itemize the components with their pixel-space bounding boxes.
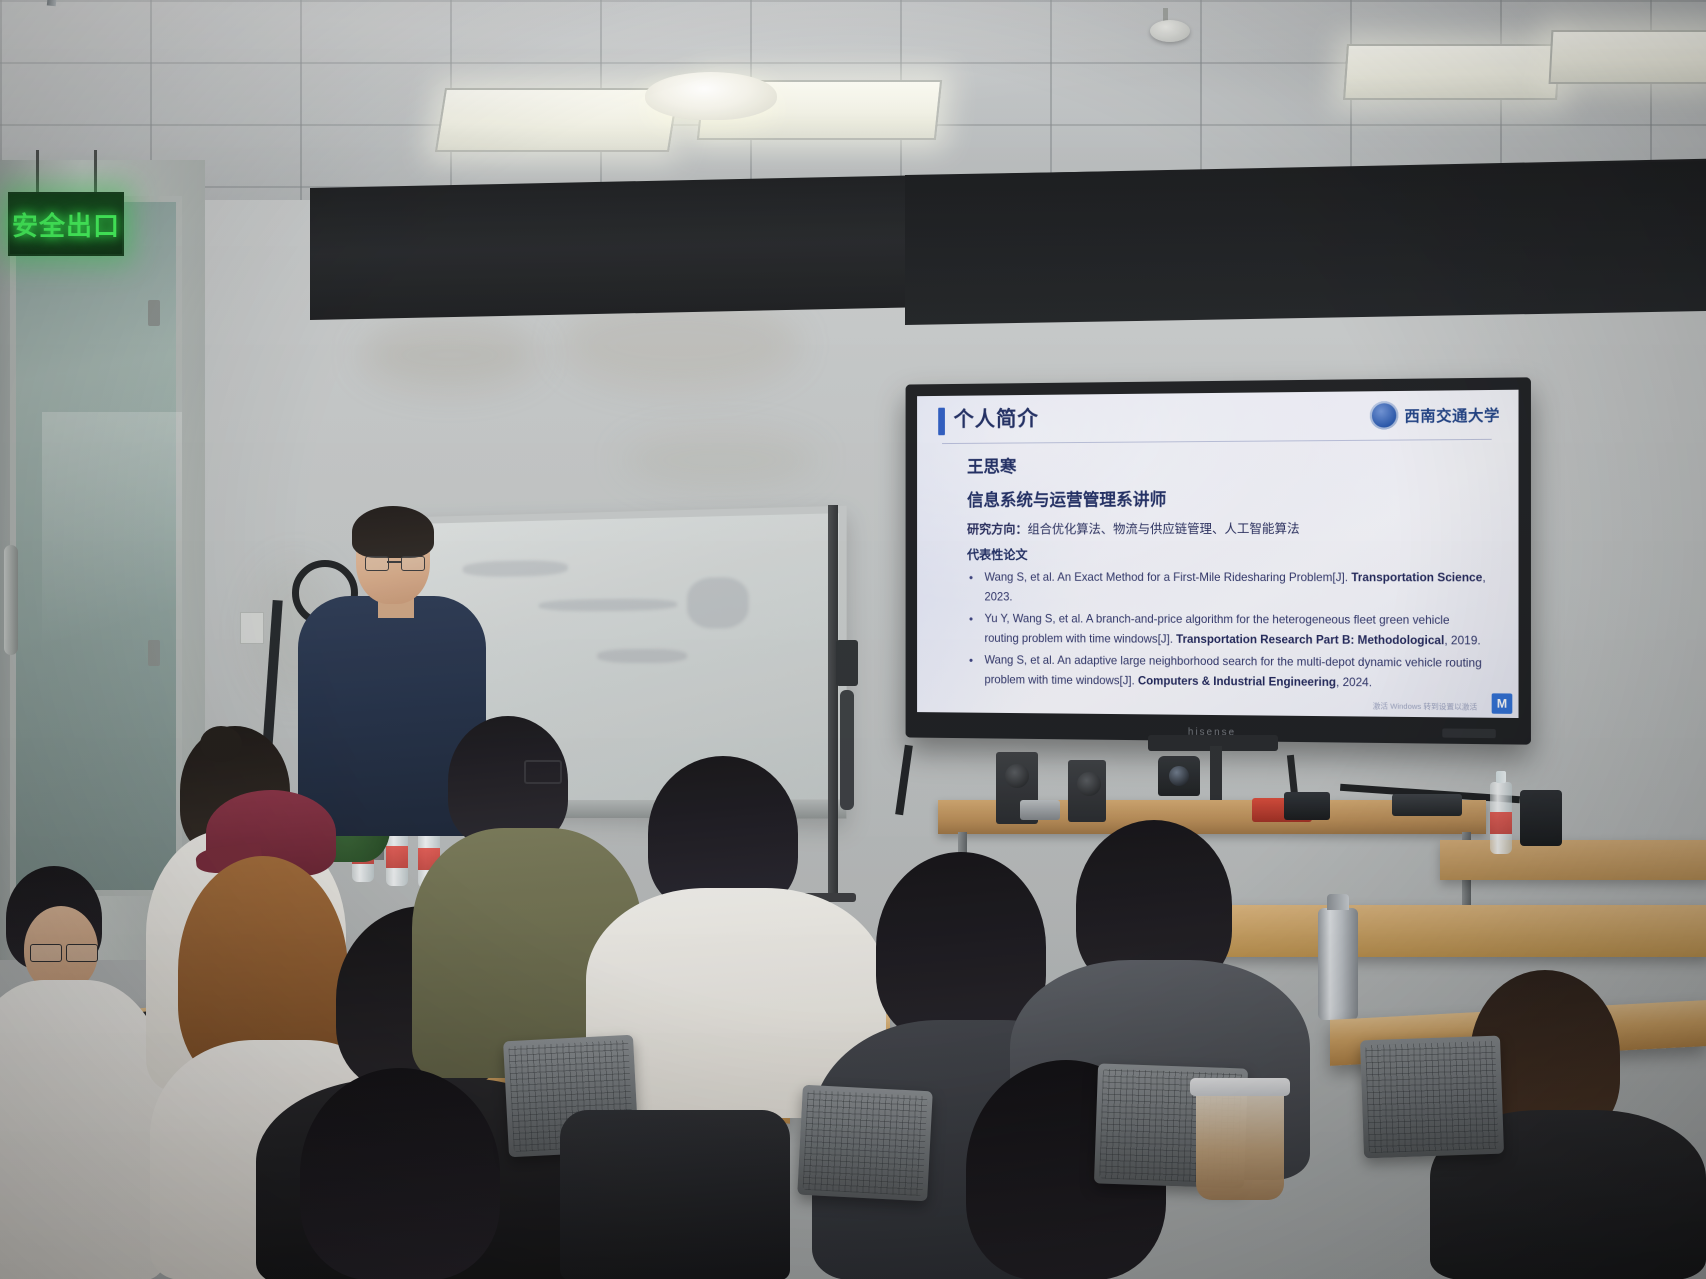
chair-mesh <box>802 1090 927 1196</box>
research-label: 研究方向： <box>967 521 1028 536</box>
publication-prefix: Wang S, et al. An Exact Method for a Fir… <box>984 571 1351 584</box>
cup-lid <box>1190 1078 1290 1096</box>
wall-outlet[interactable] <box>240 612 264 644</box>
dome-ceiling-light <box>645 72 777 120</box>
side-table <box>1440 840 1706 880</box>
av-device-grey[interactable] <box>1020 800 1060 820</box>
wall-valance-band <box>905 161 1706 325</box>
water-bottle[interactable] <box>1490 782 1512 854</box>
display-stand-arm <box>1210 746 1222 806</box>
smoke-detector-icon <box>1150 20 1190 42</box>
slide-title: 个人简介 <box>954 403 1039 433</box>
chair[interactable] <box>797 1085 933 1202</box>
publication-journal: Computers & Industrial Engineering <box>1138 674 1336 689</box>
head-hair <box>300 1068 500 1279</box>
bottle-label <box>386 846 408 868</box>
chair[interactable] <box>1360 1036 1504 1159</box>
hair-tie <box>200 726 242 762</box>
speaker <box>1068 760 1106 822</box>
research-areas: 组合优化算法、物流与供应链管理、人工智能算法 <box>1028 521 1300 537</box>
ceiling-light-panel <box>435 88 679 152</box>
ceiling-light-panel <box>1549 30 1706 84</box>
whiteboard-cable <box>840 690 854 810</box>
publication-journal: Transportation Science <box>1351 571 1482 584</box>
presenter-hair <box>352 506 434 558</box>
audience-desk-right <box>1200 905 1706 957</box>
publication-suffix: , 2019. <box>1444 634 1480 647</box>
torso <box>0 980 170 1279</box>
av-device-mixer[interactable] <box>1392 794 1462 816</box>
door-hinge <box>148 640 160 666</box>
publication-item: Wang S, et al. An adaptive large neighbo… <box>967 650 1487 694</box>
bottle-label <box>1490 812 1512 834</box>
publications-list: Wang S, et al. An Exact Method for a Fir… <box>967 568 1487 694</box>
whiteboard-marks <box>463 560 568 577</box>
video-camera <box>1158 756 1200 796</box>
door-hinge <box>148 300 160 326</box>
wall-stain <box>360 320 540 390</box>
glasses-icon <box>365 556 423 569</box>
glasses-bridge <box>387 561 401 563</box>
glasses-lens <box>365 556 389 571</box>
backpack <box>560 1110 790 1279</box>
classroom-photo-scene: 安全出口 个人简介 西南交通大学 <box>0 0 1706 1279</box>
thermos-bottle[interactable] <box>1318 908 1358 1020</box>
publication-item: Yu Y, Wang S, et al. A branch-and-price … <box>967 609 1487 651</box>
whiteboard-marks <box>687 577 749 629</box>
corner-badge: M <box>1492 693 1513 714</box>
iced-drink-cup[interactable] <box>1196 1090 1284 1200</box>
glasses-lens <box>30 944 62 962</box>
glasses-lens <box>401 556 425 571</box>
exit-sign-label: 安全出口 <box>12 206 120 243</box>
slide-accent-bar <box>938 408 945 436</box>
whiteboard-marks <box>597 649 687 663</box>
emergency-exit-sign: 安全出口 <box>8 192 124 256</box>
university-logo: 西南交通大学 <box>1370 400 1500 430</box>
publication-journal: Transportation Research Part B: Methodol… <box>1176 633 1444 647</box>
windows-activation-watermark: 激活 Windows 转到设置以激活 <box>1373 701 1477 711</box>
university-seal-icon <box>1370 401 1398 430</box>
glasses-lens <box>524 760 562 784</box>
publications-label: 代表性论文 <box>967 544 1487 563</box>
exit-sign-rod <box>36 150 39 194</box>
display-ir-receiver <box>1442 728 1495 738</box>
glasses-lens <box>66 944 98 962</box>
ceiling-light-panel <box>1343 44 1561 100</box>
wall-display[interactable]: 个人简介 西南交通大学 王思寒 信息系统与运营管理系讲师 研究方向：组合优化算法… <box>906 377 1531 744</box>
exit-sign-rod <box>94 150 97 194</box>
whiteboard-clamp <box>836 640 858 686</box>
slide-body: 王思寒 信息系统与运营管理系讲师 研究方向：组合优化算法、物流与供应链管理、人工… <box>967 449 1487 696</box>
chair-mesh <box>1365 1041 1499 1153</box>
speaker-name: 王思寒 <box>967 449 1487 477</box>
door-handle[interactable] <box>4 545 18 655</box>
publication-suffix: , 2024. <box>1336 676 1372 689</box>
wall-stain <box>620 430 820 490</box>
glass-reflection <box>42 412 182 712</box>
university-name: 西南交通大学 <box>1404 404 1499 426</box>
slide-divider <box>942 439 1492 444</box>
whiteboard-stand-leg <box>828 505 838 895</box>
av-device-black[interactable] <box>1284 792 1330 820</box>
speaker-title: 信息系统与运营管理系讲师 <box>967 484 1487 511</box>
whiteboard-marks <box>539 598 677 611</box>
slide-header: 个人简介 西南交通大学 <box>917 398 1518 445</box>
av-device-black[interactable] <box>1520 790 1562 846</box>
research-directions-line: 研究方向：组合优化算法、物流与供应链管理、人工智能算法 <box>967 517 1487 537</box>
publication-item: Wang S, et al. An Exact Method for a Fir… <box>967 568 1487 609</box>
presentation-slide: 个人简介 西南交通大学 王思寒 信息系统与运营管理系讲师 研究方向：组合优化算法… <box>917 390 1518 718</box>
